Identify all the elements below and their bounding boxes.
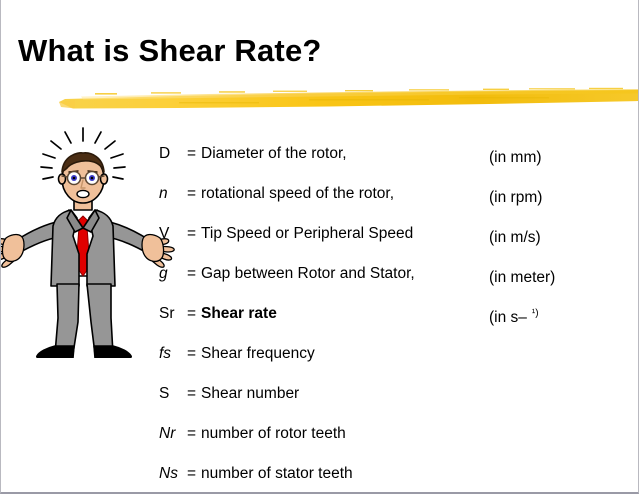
definition-symbol: n — [159, 184, 187, 204]
equals-sign: = — [187, 424, 196, 444]
definition-description: Diameter of the rotor, — [201, 144, 347, 164]
definition-symbol: fs — [159, 344, 187, 364]
definition-description: rotational speed of the rotor, — [201, 184, 394, 204]
equals-sign: = — [187, 304, 196, 324]
definition-symbol: Nr — [159, 424, 187, 444]
definition-unit: (in s–¹) — [489, 304, 539, 328]
definition-description: number of rotor teeth — [201, 424, 346, 444]
definition-row: Ns = number of stator teeth — [159, 464, 629, 494]
definition-row: D = Diameter of the rotor, (in mm) — [159, 144, 629, 184]
shrugging-businessman-illustration — [1, 126, 176, 358]
equals-sign: = — [187, 264, 196, 284]
definition-unit: (in m/s) — [489, 224, 546, 248]
definition-unit — [489, 424, 494, 448]
equals-sign: = — [187, 344, 196, 364]
definition-symbol: S — [159, 384, 187, 404]
equals-sign: = — [187, 184, 196, 204]
definition-symbol: Ns — [159, 464, 187, 484]
definition-description: Shear rate — [201, 304, 277, 324]
definition-unit: (in rpm) — [489, 184, 547, 208]
definition-row: Nr = number of rotor teeth — [159, 424, 629, 464]
page-title: What is Shear Rate? — [18, 33, 322, 69]
definition-description: Shear frequency — [201, 344, 315, 364]
equals-sign: = — [187, 464, 196, 484]
definition-unit — [489, 344, 494, 368]
definition-symbol: Sr — [159, 304, 187, 324]
definition-unit — [489, 384, 494, 408]
definition-unit: (in meter) — [489, 264, 560, 288]
definition-description: Gap between Rotor and Stator, — [201, 264, 415, 284]
definition-symbol: D — [159, 144, 187, 164]
equals-sign: = — [187, 384, 196, 404]
definition-row: n = rotational speed of the rotor, (in r… — [159, 184, 629, 224]
presentation-slide: What is Shear Rate? — [0, 0, 639, 494]
yellow-brush-underline — [59, 85, 639, 111]
definition-symbol: g — [159, 264, 187, 284]
definition-row: Sr = Shear rate (in s–¹) — [159, 304, 629, 344]
definition-unit: (in mm) — [489, 144, 547, 168]
definition-description: Tip Speed or Peripheral Speed — [201, 224, 413, 244]
definition-row: S = Shear number — [159, 384, 629, 424]
equals-sign: = — [187, 144, 196, 164]
definitions-list: D = Diameter of the rotor, (in mm) n = r… — [159, 144, 629, 494]
definition-row: g = Gap between Rotor and Stator, (in me… — [159, 264, 629, 304]
definition-unit — [489, 464, 494, 488]
definition-symbol: V — [159, 224, 187, 244]
definition-description: number of stator teeth — [201, 464, 353, 484]
definition-row: V = Tip Speed or Peripheral Speed (in m/… — [159, 224, 629, 264]
definition-row: fs = Shear frequency — [159, 344, 629, 384]
definition-description: Shear number — [201, 384, 299, 404]
equals-sign: = — [187, 224, 196, 244]
